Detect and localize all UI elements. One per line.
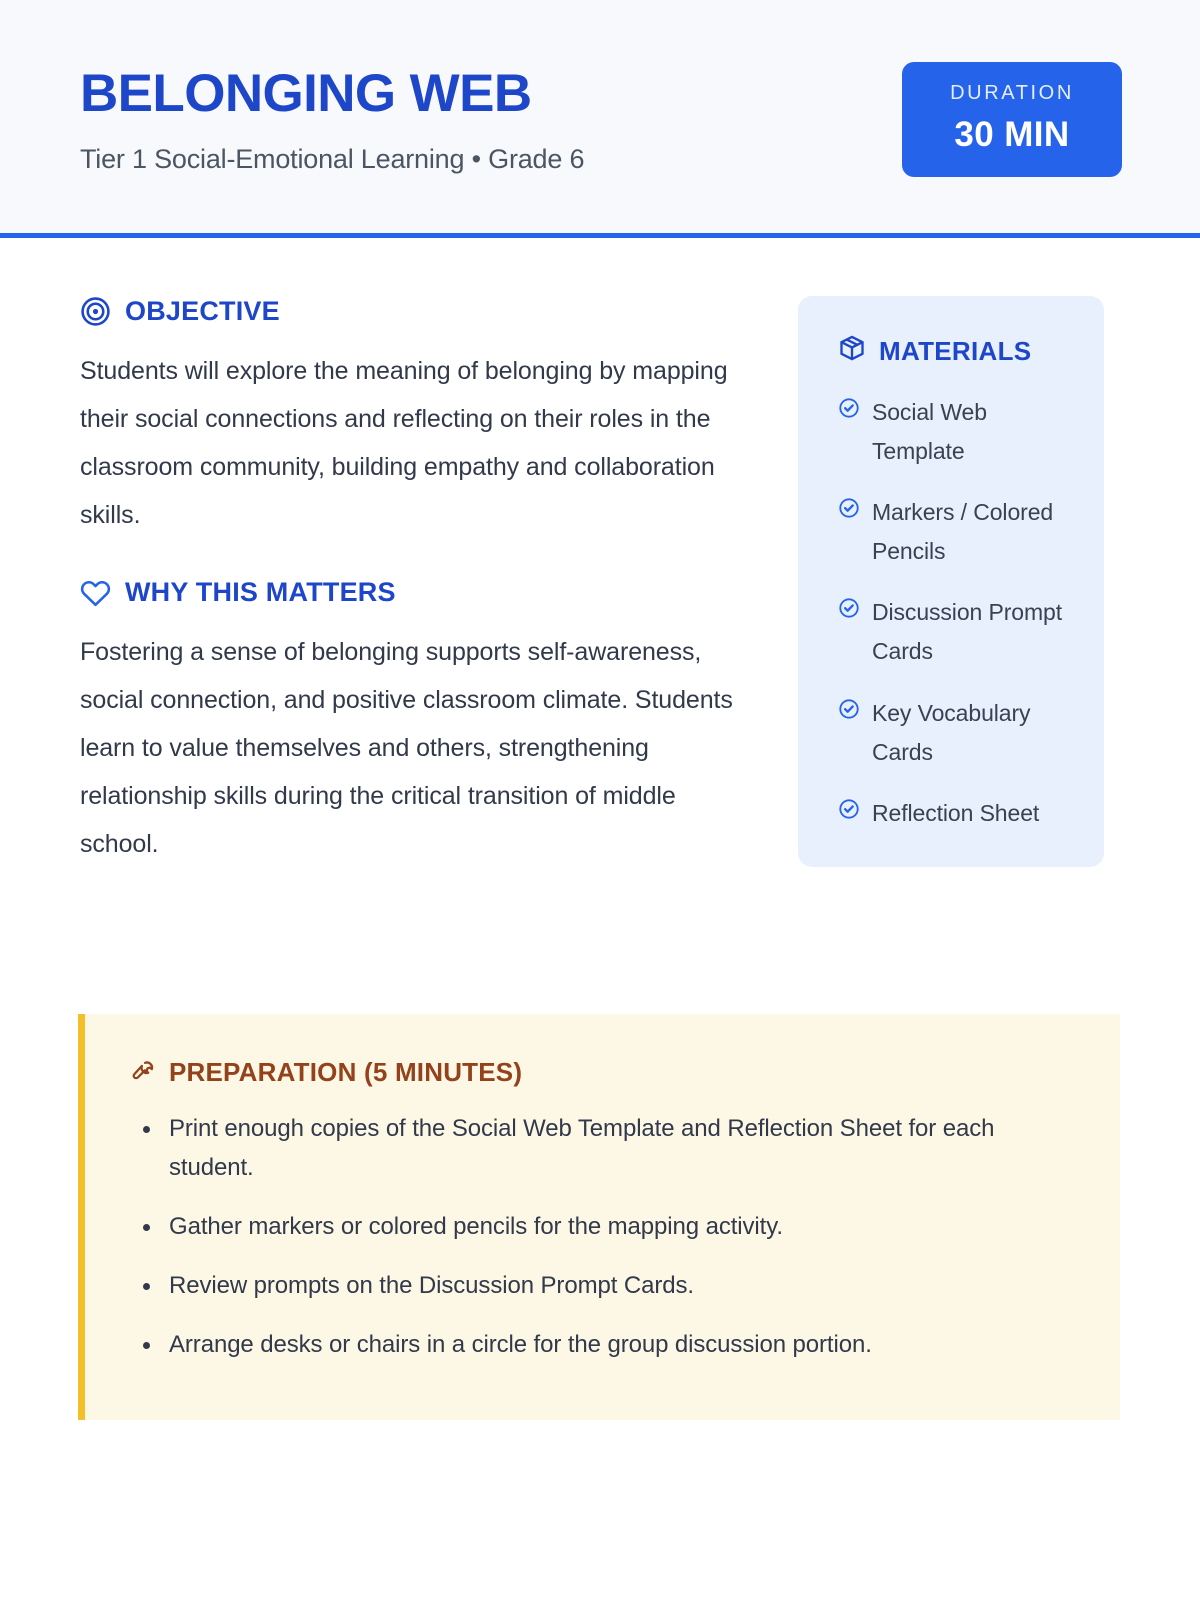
list-item: Print enough copies of the Social Web Te… (169, 1110, 1080, 1188)
materials-heading-row: MATERIALS (838, 334, 1078, 367)
heart-icon (80, 577, 111, 608)
duration-value: 30 MIN (928, 115, 1096, 155)
check-circle-icon (838, 698, 860, 720)
check-circle-icon (838, 597, 860, 619)
why-this-matters-heading-row: WHY THIS MATTERS (80, 577, 760, 608)
objective-text: Students will explore the meaning of bel… (80, 347, 760, 539)
list-item: Gather markers or colored pencils for th… (169, 1208, 1080, 1247)
list-item: Key Vocabulary Cards (838, 694, 1078, 772)
material-label: Reflection Sheet (872, 794, 1039, 833)
lesson-header: BELONGING WEB Tier 1 Social-Emotional Le… (0, 0, 1200, 238)
page-title: BELONGING WEB (80, 66, 584, 122)
preparation-heading-row: PREPARATION (5 MINUTES) (129, 1056, 1080, 1088)
wrench-icon (129, 1056, 156, 1088)
check-circle-icon (838, 497, 860, 519)
why-this-matters-text: Fostering a sense of belonging supports … (80, 628, 760, 868)
package-icon (838, 334, 866, 367)
duration-label: DURATION (928, 82, 1096, 105)
list-item: Reflection Sheet (838, 794, 1078, 833)
lesson-plan-page: BELONGING WEB Tier 1 Social-Emotional Le… (0, 0, 1200, 1600)
list-item: Arrange desks or chairs in a circle for … (169, 1326, 1080, 1365)
preparation-wrapper: PREPARATION (5 MINUTES) Print enough cop… (0, 1014, 1200, 1420)
main-column: OBJECTIVE Students will explore the mean… (80, 296, 760, 868)
material-label: Markers / Colored Pencils (872, 493, 1078, 571)
list-item: Discussion Prompt Cards (838, 593, 1078, 671)
why-this-matters-title: WHY THIS MATTERS (125, 579, 396, 606)
content-area: OBJECTIVE Students will explore the mean… (0, 238, 1200, 868)
lesson-subtitle: Tier 1 Social-Emotional Learning • Grade… (80, 144, 584, 175)
check-circle-icon (838, 798, 860, 820)
header-title-group: BELONGING WEB Tier 1 Social-Emotional Le… (80, 62, 584, 175)
why-this-matters-section: WHY THIS MATTERS Fostering a sense of be… (80, 577, 760, 868)
materials-title: MATERIALS (879, 338, 1031, 364)
preparation-box: PREPARATION (5 MINUTES) Print enough cop… (78, 1014, 1120, 1420)
material-label: Social Web Template (872, 393, 1078, 471)
objective-title: OBJECTIVE (125, 298, 280, 325)
duration-badge: DURATION 30 MIN (902, 62, 1122, 177)
check-circle-icon (838, 397, 860, 419)
materials-list: Social Web Template Markers / Colored Pe… (838, 393, 1078, 833)
list-item: Social Web Template (838, 393, 1078, 471)
list-item: Markers / Colored Pencils (838, 493, 1078, 571)
side-column: MATERIALS Social Web Template (798, 296, 1104, 867)
objective-heading-row: OBJECTIVE (80, 296, 760, 327)
objective-section: OBJECTIVE Students will explore the mean… (80, 296, 760, 539)
material-label: Key Vocabulary Cards (872, 694, 1078, 772)
preparation-list: Print enough copies of the Social Web Te… (129, 1110, 1080, 1364)
list-item: Review prompts on the Discussion Prompt … (169, 1267, 1080, 1306)
materials-card: MATERIALS Social Web Template (798, 296, 1104, 867)
preparation-title: PREPARATION (5 MINUTES) (169, 1059, 522, 1085)
target-icon (80, 296, 111, 327)
material-label: Discussion Prompt Cards (872, 593, 1078, 671)
